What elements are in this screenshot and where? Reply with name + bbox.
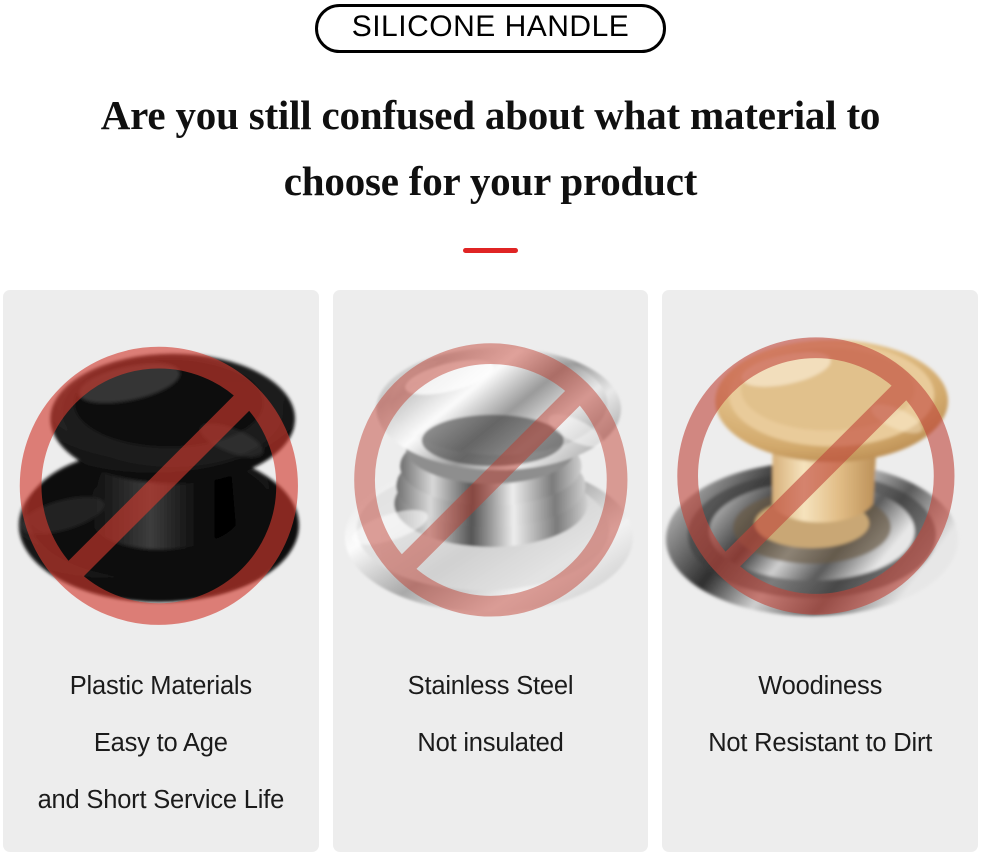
caption-line: Easy to Age	[3, 715, 319, 772]
silicone-handle-badge: SILICONE HANDLE	[315, 4, 667, 53]
page-title-line-1: Are you still confused about what materi…	[101, 92, 880, 138]
caption-line: Stainless Steel	[333, 658, 649, 715]
material-panel-plastic: Plastic Materials Easy to Age and Short …	[3, 290, 319, 852]
plastic-knob-illustration	[3, 290, 319, 658]
page-title-line-2: choose for your product	[0, 148, 981, 214]
caption-line: Woodiness	[662, 658, 978, 715]
caption-line: Not Resistant to Dirt	[662, 715, 978, 772]
panel-caption-woodiness: Woodiness Not Resistant to Dirt	[662, 658, 978, 772]
infographic-page: SILICONE HANDLE Are you still confused a…	[0, 0, 981, 855]
caption-line: and Short Service Life	[3, 772, 319, 829]
panel-caption-stainless-steel: Stainless Steel Not insulated	[333, 658, 649, 772]
divider-wrap	[0, 248, 981, 253]
material-panel-woodiness: Woodiness Not Resistant to Dirt	[662, 290, 978, 852]
badge-row: SILICONE HANDLE	[0, 4, 981, 53]
panel-caption-plastic: Plastic Materials Easy to Age and Short …	[3, 658, 319, 829]
page-title: Are you still confused about what materi…	[0, 82, 981, 214]
caption-line: Not insulated	[333, 715, 649, 772]
wooden-knob-illustration	[662, 290, 978, 658]
material-panels: Plastic Materials Easy to Age and Short …	[0, 290, 981, 852]
stainless-steel-knob-illustration	[333, 290, 649, 658]
red-divider	[463, 248, 518, 253]
material-panel-stainless-steel: Stainless Steel Not insulated	[333, 290, 649, 852]
caption-line: Plastic Materials	[3, 658, 319, 715]
